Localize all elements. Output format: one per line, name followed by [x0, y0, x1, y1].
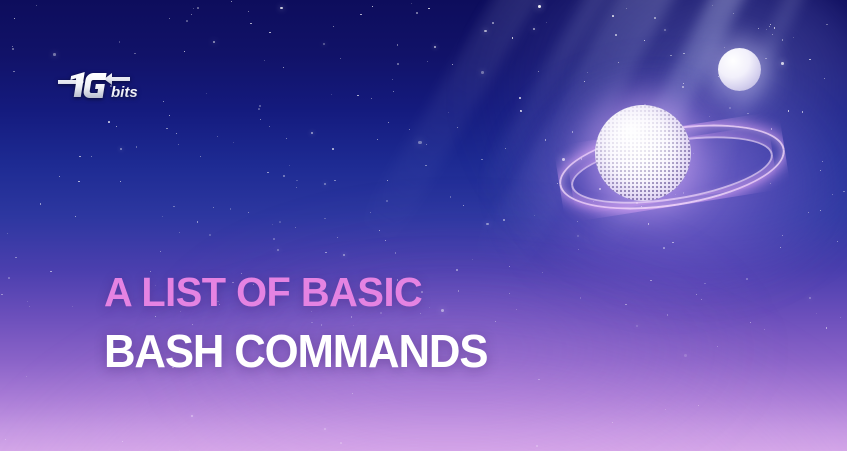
- star: [832, 194, 833, 195]
- star: [26, 376, 27, 377]
- star: [340, 442, 342, 444]
- star: [206, 93, 207, 94]
- star: [809, 297, 812, 300]
- star: [250, 23, 251, 24]
- star: [213, 41, 216, 44]
- star: [286, 138, 287, 139]
- star: [116, 126, 117, 127]
- star: [14, 18, 15, 19]
- star: [377, 139, 379, 141]
- star: [163, 101, 164, 102]
- star: [200, 156, 201, 157]
- star: [393, 91, 394, 92]
- star: [780, 247, 781, 248]
- star: [343, 254, 345, 256]
- star: [766, 29, 767, 30]
- star: [209, 234, 211, 236]
- star: [186, 20, 188, 22]
- star: [296, 187, 298, 189]
- star: [758, 28, 759, 29]
- star: [418, 141, 421, 144]
- star: [397, 63, 399, 65]
- star: [53, 53, 56, 56]
- star: [337, 237, 338, 238]
- star: [782, 235, 783, 236]
- star: [808, 212, 809, 213]
- star: [197, 7, 199, 9]
- star: [746, 278, 748, 280]
- star: [538, 379, 539, 380]
- star: [267, 172, 269, 174]
- star: [578, 249, 579, 250]
- star: [324, 218, 325, 219]
- star: [372, 6, 374, 8]
- star: [387, 180, 388, 181]
- star: [650, 280, 652, 282]
- star: [191, 14, 192, 15]
- star: [392, 79, 393, 80]
- star: [213, 207, 214, 208]
- star: [388, 122, 389, 123]
- svg-text:bits: bits: [111, 84, 138, 101]
- star: [176, 133, 177, 134]
- star: [486, 223, 489, 226]
- star: [802, 111, 803, 112]
- star: [584, 81, 585, 82]
- star: [448, 112, 449, 113]
- headline-line-2: BASH COMMANDS: [104, 328, 487, 374]
- star: [667, 314, 669, 316]
- star: [283, 175, 285, 177]
- star: [357, 95, 358, 96]
- star: [481, 159, 482, 160]
- star: [840, 317, 841, 318]
- star: [5, 439, 6, 440]
- star: [538, 71, 539, 72]
- star: [79, 156, 81, 158]
- star: [750, 322, 751, 323]
- star: [545, 139, 547, 141]
- star: [264, 60, 265, 61]
- star: [178, 144, 180, 146]
- star: [13, 71, 15, 73]
- star: [683, 53, 685, 55]
- star: [191, 415, 193, 417]
- star: [119, 41, 121, 43]
- star: [162, 216, 163, 217]
- star: [428, 8, 430, 10]
- star: [425, 165, 426, 166]
- star: [820, 210, 821, 211]
- star: [781, 62, 784, 65]
- star: [788, 110, 790, 112]
- star: [704, 283, 706, 285]
- star: [134, 53, 136, 55]
- star: [665, 409, 666, 410]
- star: [587, 72, 588, 73]
- star: [509, 293, 510, 294]
- star: [122, 441, 123, 442]
- star: [12, 48, 14, 50]
- star: [626, 8, 627, 9]
- star: [231, 1, 232, 2]
- star: [816, 313, 818, 315]
- star: [289, 165, 290, 166]
- star: [672, 242, 674, 244]
- star: [670, 55, 672, 57]
- star: [520, 110, 522, 112]
- star: [519, 97, 521, 99]
- star: [36, 5, 37, 6]
- star: [230, 208, 231, 209]
- star: [409, 129, 410, 130]
- star: [542, 272, 543, 273]
- star: [279, 221, 281, 223]
- star: [269, 32, 271, 34]
- star: [770, 24, 772, 26]
- star: [197, 221, 199, 223]
- star: [481, 71, 484, 74]
- star: [512, 37, 513, 38]
- halftone-ringed-planet: [560, 88, 780, 228]
- star: [324, 183, 326, 185]
- star: [169, 18, 170, 19]
- star: [615, 34, 617, 36]
- star: [260, 119, 261, 120]
- star: [472, 259, 473, 260]
- star: [684, 354, 687, 357]
- star: [1, 294, 2, 295]
- star: [8, 277, 10, 279]
- star: [769, 26, 771, 28]
- star: [712, 5, 713, 6]
- headline-block: A LIST OF BASIC BASH COMMANDS: [104, 272, 508, 374]
- star: [463, 205, 464, 206]
- star: [248, 212, 249, 213]
- star: [457, 127, 458, 128]
- speed-arrow-icon: bits: [56, 64, 148, 104]
- star: [612, 422, 613, 423]
- star: [426, 144, 427, 145]
- star: [7, 233, 9, 235]
- star: [516, 309, 517, 310]
- star: [822, 161, 823, 162]
- star: [15, 257, 17, 259]
- star: [782, 39, 784, 41]
- star: [233, 142, 234, 143]
- star: [272, 224, 273, 225]
- star: [108, 121, 110, 123]
- star: [160, 251, 161, 252]
- star: [340, 58, 341, 59]
- star: [179, 232, 180, 233]
- star: [323, 43, 325, 45]
- star: [360, 14, 361, 15]
- star: [166, 128, 167, 129]
- star: [533, 28, 536, 31]
- star: [764, 329, 765, 330]
- star: [452, 64, 453, 65]
- star: [370, 212, 371, 213]
- star: [505, 148, 506, 149]
- star: [331, 94, 332, 95]
- star: [625, 304, 627, 306]
- star: [295, 227, 296, 228]
- star: [397, 44, 399, 46]
- star: [169, 115, 170, 116]
- star: [120, 148, 122, 150]
- star: [91, 156, 92, 157]
- star: [136, 146, 138, 148]
- star: [193, 8, 194, 9]
- star: [536, 445, 538, 447]
- star: [450, 196, 452, 198]
- star: [296, 180, 298, 182]
- star: [334, 180, 336, 182]
- star: [793, 37, 794, 38]
- star: [411, 3, 412, 4]
- star: [663, 247, 665, 249]
- star: [733, 13, 735, 15]
- star: [332, 148, 334, 150]
- star: [173, 206, 175, 208]
- star: [385, 240, 386, 241]
- star: [698, 405, 699, 406]
- star: [826, 24, 828, 26]
- star: [824, 78, 825, 79]
- star: [277, 249, 280, 252]
- star: [618, 62, 620, 64]
- bash-commands-hero-banner: bits A LIST OF BASIC BASH COMMANDS: [0, 0, 847, 451]
- star: [324, 428, 326, 430]
- star: [820, 170, 821, 171]
- star: [258, 108, 260, 110]
- small-moon: [718, 48, 761, 91]
- star: [27, 301, 29, 303]
- star: [772, 34, 773, 35]
- star: [40, 203, 42, 205]
- star: [280, 7, 283, 10]
- star: [273, 238, 275, 240]
- star: [774, 27, 776, 29]
- star: [509, 266, 510, 267]
- star: [427, 61, 428, 62]
- star: [352, 393, 353, 394]
- star: [395, 252, 396, 253]
- star: [577, 235, 579, 237]
- star: [259, 105, 261, 107]
- star: [248, 11, 249, 12]
- brand-logo-1gbits[interactable]: bits: [56, 64, 148, 104]
- star: [612, 15, 614, 17]
- star: [184, 51, 185, 52]
- star: [717, 346, 718, 347]
- star: [546, 22, 547, 23]
- star: [809, 59, 811, 61]
- star: [283, 67, 284, 68]
- star: [75, 216, 76, 217]
- headline-line-1: A LIST OF BASIC: [104, 272, 495, 313]
- star: [333, 26, 334, 27]
- star: [557, 183, 558, 184]
- star: [29, 306, 30, 307]
- star: [644, 40, 645, 41]
- star: [484, 30, 487, 33]
- star: [492, 22, 494, 24]
- star: [580, 297, 582, 299]
- star: [416, 12, 417, 13]
- star: [654, 17, 656, 19]
- star: [701, 299, 702, 300]
- star: [696, 294, 698, 296]
- star: [311, 132, 313, 134]
- star: [826, 327, 828, 329]
- star: [379, 230, 380, 231]
- star: [456, 269, 458, 271]
- star: [78, 181, 80, 183]
- star: [269, 126, 270, 127]
- star: [12, 46, 13, 47]
- star: [534, 215, 535, 216]
- star: [386, 200, 387, 201]
- star: [50, 271, 51, 272]
- star: [664, 29, 666, 31]
- star: [765, 58, 767, 60]
- star: [538, 5, 541, 8]
- star: [217, 136, 218, 137]
- star: [59, 176, 60, 177]
- star: [325, 252, 327, 254]
- star: [837, 241, 838, 242]
- star: [434, 46, 436, 48]
- star: [683, 83, 684, 84]
- star: [520, 110, 522, 112]
- star: [843, 191, 844, 192]
- star: [72, 306, 73, 307]
- star: [724, 47, 725, 48]
- star: [371, 98, 372, 99]
- star: [503, 219, 505, 221]
- star: [120, 181, 121, 182]
- star: [636, 325, 638, 327]
